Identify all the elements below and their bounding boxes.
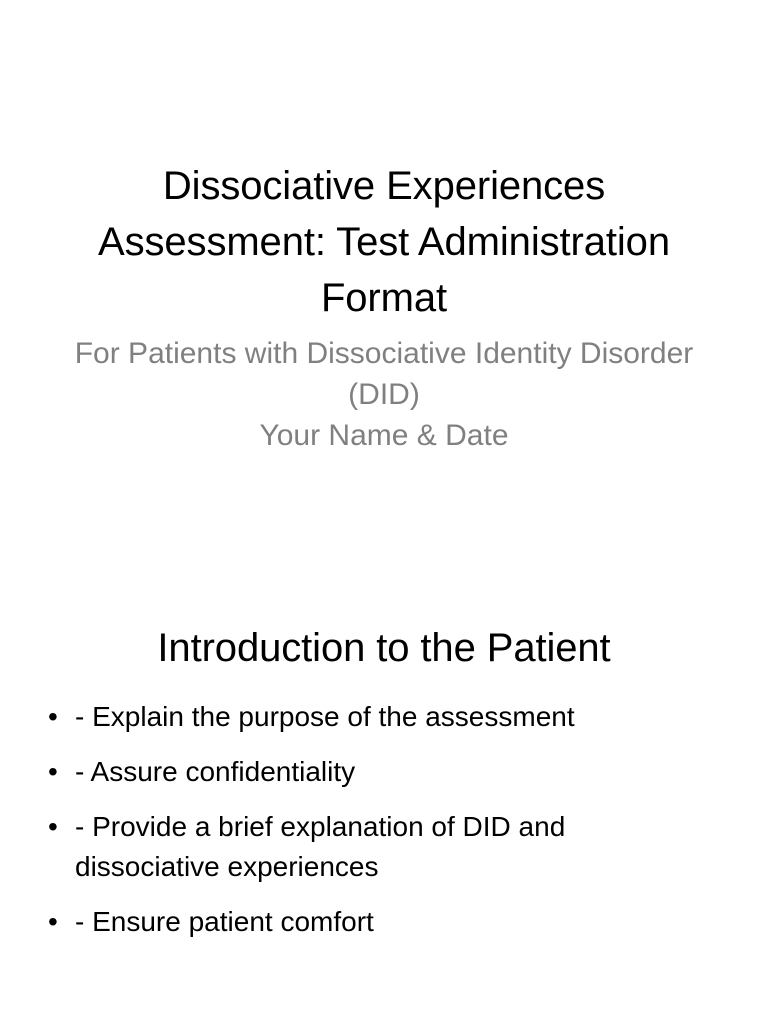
list-item-label: - Ensure patient comfort — [75, 906, 374, 937]
page-title: Dissociative Experiences Assessment: Tes… — [60, 158, 708, 326]
bullet-list: • - Explain the purpose of the assessmen… — [40, 676, 728, 942]
list-item-label: - Provide a brief explanation of DID and… — [75, 811, 565, 882]
bullet-point-icon: • — [48, 752, 58, 792]
bullet-point-icon: • — [48, 697, 58, 737]
list-item: • - Ensure patient comfort — [40, 902, 705, 942]
section-block: Introduction to the Patient • - Explain … — [40, 620, 728, 942]
slide-page: Dissociative Experiences Assessment: Tes… — [0, 0, 768, 1024]
list-item: • - Explain the purpose of the assessmen… — [40, 697, 705, 737]
page-byline: Your Name & Date — [60, 415, 708, 456]
bullet-point-icon: • — [48, 902, 58, 942]
bullet-point-icon: • — [48, 807, 58, 847]
section-heading: Introduction to the Patient — [40, 620, 728, 676]
list-item-label: - Explain the purpose of the assessment — [75, 701, 575, 732]
list-item: • - Assure confidentiality — [40, 752, 705, 792]
page-subtitle: For Patients with Dissociative Identity … — [60, 326, 708, 415]
list-item-label: - Assure confidentiality — [75, 756, 355, 787]
list-item: • - Provide a brief explanation of DID a… — [40, 807, 705, 887]
title-block: Dissociative Experiences Assessment: Tes… — [60, 158, 708, 456]
